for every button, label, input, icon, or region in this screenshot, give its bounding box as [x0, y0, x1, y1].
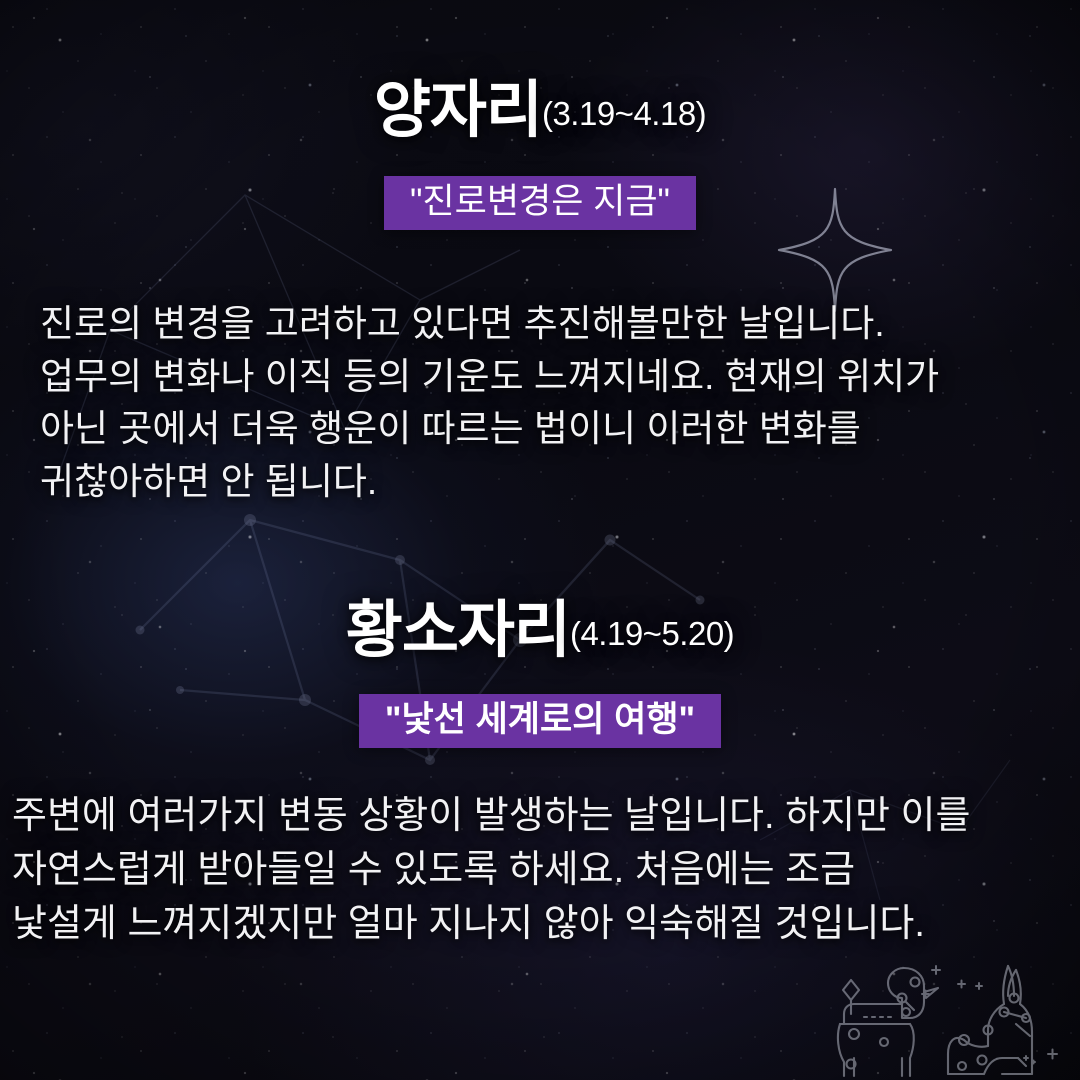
constellation-lion-icon [838, 968, 938, 1076]
zodiac-name-aries: 양자리 [374, 76, 542, 145]
body-text-aries: 진로의 변경을 고려하고 있다면 추진해볼만한 날입니다. 업무의 변화나 이직… [40, 298, 1040, 508]
badge-taurus: "낯선 세계로의 여행" [359, 694, 721, 748]
corner-constellation-decoration [810, 962, 1072, 1080]
body-text-taurus: 주변에 여러가지 변동 상황이 발생하는 날입니다. 하지만 이를 자연스럽게 … [12, 790, 1068, 952]
zodiac-name-taurus: 황소자리 [346, 596, 570, 665]
zodiac-dates-aries: (3.19~4.18) [542, 95, 706, 132]
section-aries: 양자리(3.19~4.18) "진로변경은 지금" [0, 80, 1080, 230]
zodiac-heading-aries: 양자리(3.19~4.18) [0, 80, 1080, 142]
sparkle-plus-icons [922, 966, 1057, 1064]
zodiac-dates-taurus: (4.19~5.20) [570, 615, 734, 652]
section-taurus: 황소자리(4.19~5.20) "낯선 세계로의 여행" [0, 600, 1080, 748]
badge-aries: "진로변경은 지금" [384, 176, 696, 230]
zodiac-heading-taurus: 황소자리(4.19~5.20) [0, 600, 1080, 662]
constellation-rabbit-icon [948, 966, 1032, 1074]
horoscope-card: 양자리(3.19~4.18) "진로변경은 지금" 진로의 변경을 고려하고 있… [0, 0, 1080, 1080]
